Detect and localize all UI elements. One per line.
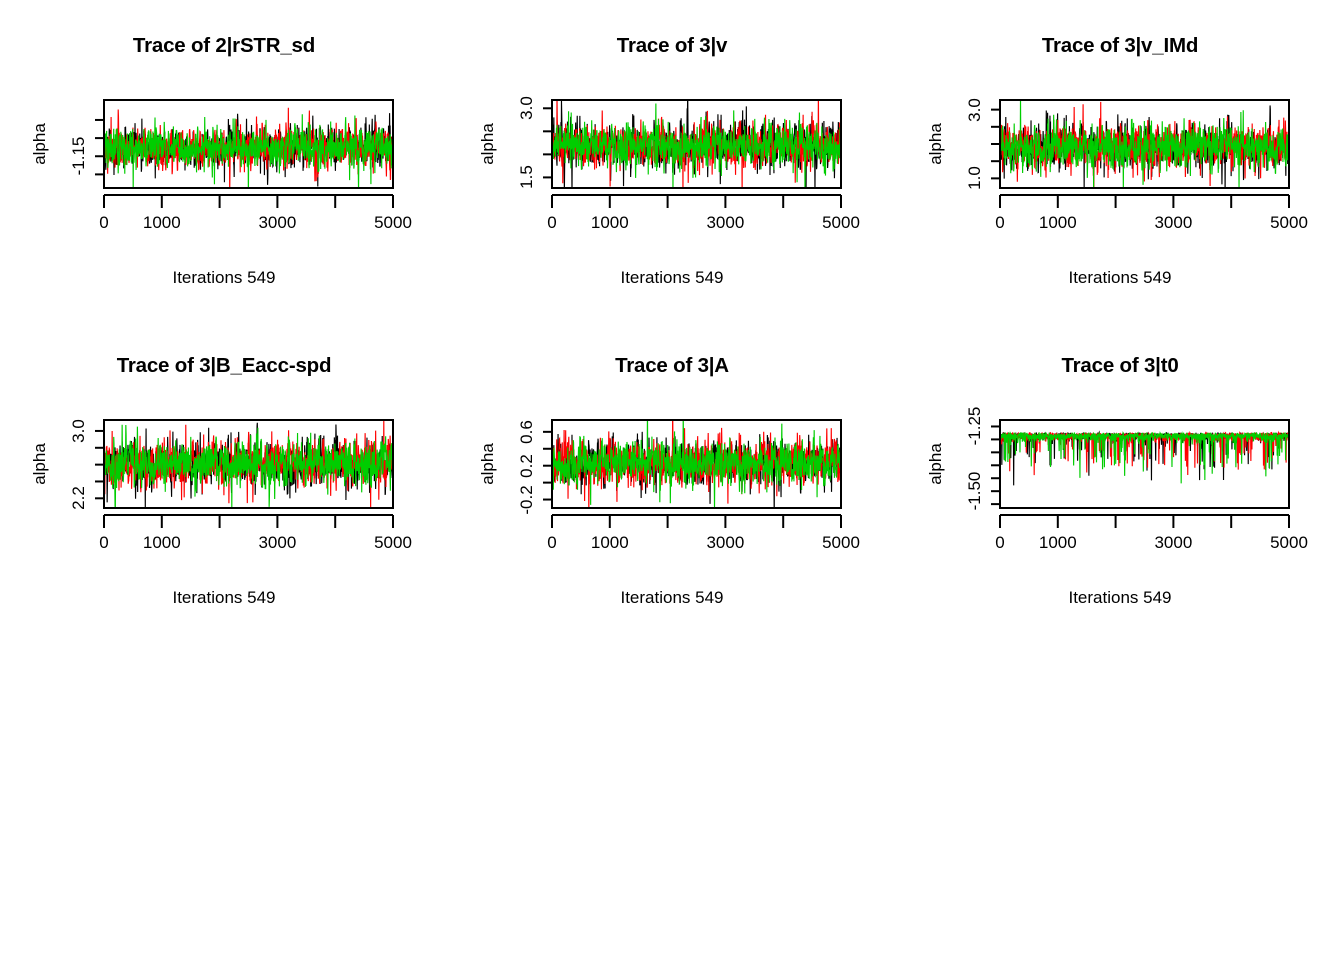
x-axis-tick-label: 3000 <box>685 533 765 553</box>
trace-panel-2: Trace of 3|v1.53.0alpha0100030005000Iter… <box>448 0 896 320</box>
x-axis-tick-label: 3000 <box>237 533 317 553</box>
y-axis-tick-label: 3.0 <box>69 419 89 443</box>
x-axis-label: Iterations 549 <box>448 588 896 608</box>
x-axis-tick-label: 1000 <box>122 213 202 233</box>
trace-panel-1: Trace of 2|rSTR_sd-1.15alpha010003000500… <box>0 0 448 320</box>
y-axis-tick-label: -0.2 <box>517 485 537 514</box>
x-axis-label: Iterations 549 <box>448 268 896 288</box>
y-axis-tick-label: -1.15 <box>69 137 89 176</box>
y-axis-tick-label: 2.2 <box>69 486 89 510</box>
y-axis-label: alpha <box>926 443 946 485</box>
y-axis-tick-label: 3.0 <box>517 96 537 120</box>
x-axis-tick-label: 3000 <box>237 213 317 233</box>
x-axis-tick-label: 3000 <box>1133 533 1213 553</box>
x-axis-tick-label: 1000 <box>1018 213 1098 233</box>
x-axis-tick-label: 3000 <box>1133 213 1213 233</box>
y-axis-label: alpha <box>478 123 498 165</box>
x-axis-tick-label: 5000 <box>1249 533 1329 553</box>
trace-panel-5: Trace of 3|A-0.20.20.6alpha0100030005000… <box>448 320 896 640</box>
y-axis-tick-label: 0.6 <box>517 420 537 444</box>
y-axis-tick-label: -1.25 <box>965 407 985 446</box>
x-axis-tick-label: 1000 <box>570 533 650 553</box>
x-axis-tick-label: 5000 <box>1249 213 1329 233</box>
x-axis-tick-label: 1000 <box>1018 533 1098 553</box>
trace-panel-4: Trace of 3|B_Eacc-spd2.23.0alpha01000300… <box>0 320 448 640</box>
x-axis-label: Iterations 549 <box>0 588 448 608</box>
y-axis-tick-label: 1.5 <box>517 166 537 190</box>
y-axis-tick-label: 0.2 <box>517 454 537 478</box>
x-axis-tick-label: 5000 <box>801 533 881 553</box>
trace-panel-3: Trace of 3|v_IMd1.03.0alpha0100030005000… <box>896 0 1344 320</box>
x-axis-label: Iterations 549 <box>896 588 1344 608</box>
trace-plot-figure: Trace of 2|rSTR_sd-1.15alpha010003000500… <box>0 0 1344 960</box>
trace-line-chain-3 <box>104 114 393 196</box>
x-axis-tick-label: 1000 <box>570 213 650 233</box>
y-axis-tick-label: 1.0 <box>965 167 985 191</box>
x-axis-tick-label: 5000 <box>353 533 433 553</box>
y-axis-label: alpha <box>30 443 50 485</box>
x-axis-tick-label: 5000 <box>353 213 433 233</box>
x-axis-label: Iterations 549 <box>0 268 448 288</box>
y-axis-label: alpha <box>926 123 946 165</box>
y-axis-tick-label: 3.0 <box>965 98 985 122</box>
trace-panel-6: Trace of 3|t0-1.50-1.25alpha010003000500… <box>896 320 1344 640</box>
y-axis-label: alpha <box>478 443 498 485</box>
x-axis-tick-label: 3000 <box>685 213 765 233</box>
x-axis-tick-label: 1000 <box>122 533 202 553</box>
y-axis-tick-label: -1.50 <box>965 472 985 511</box>
y-axis-label: alpha <box>30 123 50 165</box>
x-axis-tick-label: 5000 <box>801 213 881 233</box>
x-axis-label: Iterations 549 <box>896 268 1344 288</box>
